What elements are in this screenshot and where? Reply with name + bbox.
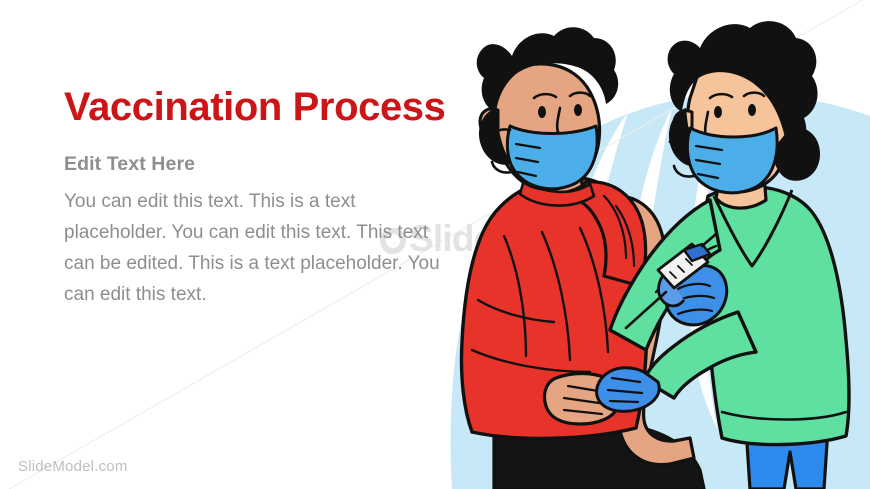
footer-brand: SlideModel.com: [18, 458, 128, 475]
vaccination-illustration: [408, 0, 870, 489]
section-subtitle: Edit Text Here: [64, 129, 454, 176]
body-paragraph: You can edit this text. This is a text p…: [64, 176, 454, 311]
page-title: Vaccination Process: [64, 86, 454, 129]
text-content-block: Vaccination Process Edit Text Here You c…: [64, 86, 454, 311]
slide-canvas: SlideModel: [0, 0, 870, 489]
